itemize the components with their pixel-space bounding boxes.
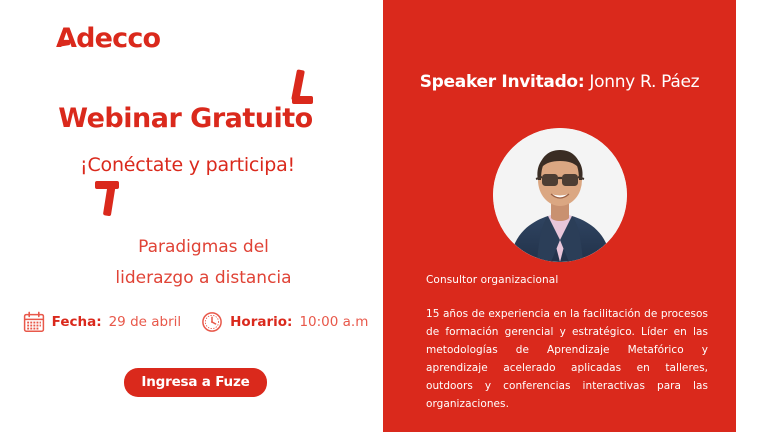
speaker-avatar <box>493 128 627 262</box>
speaker-label: Speaker Invitado: <box>420 72 585 92</box>
clock-icon <box>201 311 223 333</box>
topic-line-2: liderazgo a distancia <box>24 263 383 294</box>
event-meta-row: Fecha: 29 de abril Horario: 10:00 a.m <box>0 311 383 333</box>
calendar-icon <box>23 311 45 333</box>
ingresa-a-fuze-button[interactable]: Ingresa a Fuze <box>124 368 266 397</box>
webinar-poster: Adecco Webinar Gratuito ¡Conéctate y par… <box>0 0 768 432</box>
decor-mark-7-icon <box>95 181 122 217</box>
adecco-logo-text: Adecco <box>56 23 160 54</box>
speaker-name: Jonny R. Páez <box>589 72 699 92</box>
page-subtitle: ¡Conéctate y participa! <box>0 155 383 176</box>
left-panel: Adecco Webinar Gratuito ¡Conéctate y par… <box>0 0 383 432</box>
topic-block: Paradigmas del liderazgo a distancia <box>0 232 383 295</box>
page-title: Webinar Gratuito <box>0 104 383 134</box>
event-time-label: Horario: <box>230 314 292 330</box>
event-date-value: 29 de abril <box>109 314 182 330</box>
event-date: Fecha: 29 de abril <box>23 311 181 333</box>
cta-container: Ingresa a Fuze <box>0 368 383 397</box>
decor-mark-l-icon <box>286 70 312 104</box>
speaker-photo <box>493 128 627 262</box>
speaker-heading: Speaker Invitado: Jonny R. Páez <box>383 72 736 92</box>
event-time-value: 10:00 a.m <box>299 314 368 330</box>
speaker-bio: 15 años de experiencia en la facilitació… <box>426 305 708 413</box>
event-date-label: Fecha: <box>52 314 102 330</box>
event-time: Horario: 10:00 a.m <box>201 311 368 333</box>
topic-line-1: Paradigmas del <box>24 232 383 263</box>
speaker-panel: Speaker Invitado: Jonny R. Páez <box>383 0 736 432</box>
adecco-logo: Adecco <box>56 25 160 52</box>
speaker-role: Consultor organizacional <box>426 274 706 286</box>
